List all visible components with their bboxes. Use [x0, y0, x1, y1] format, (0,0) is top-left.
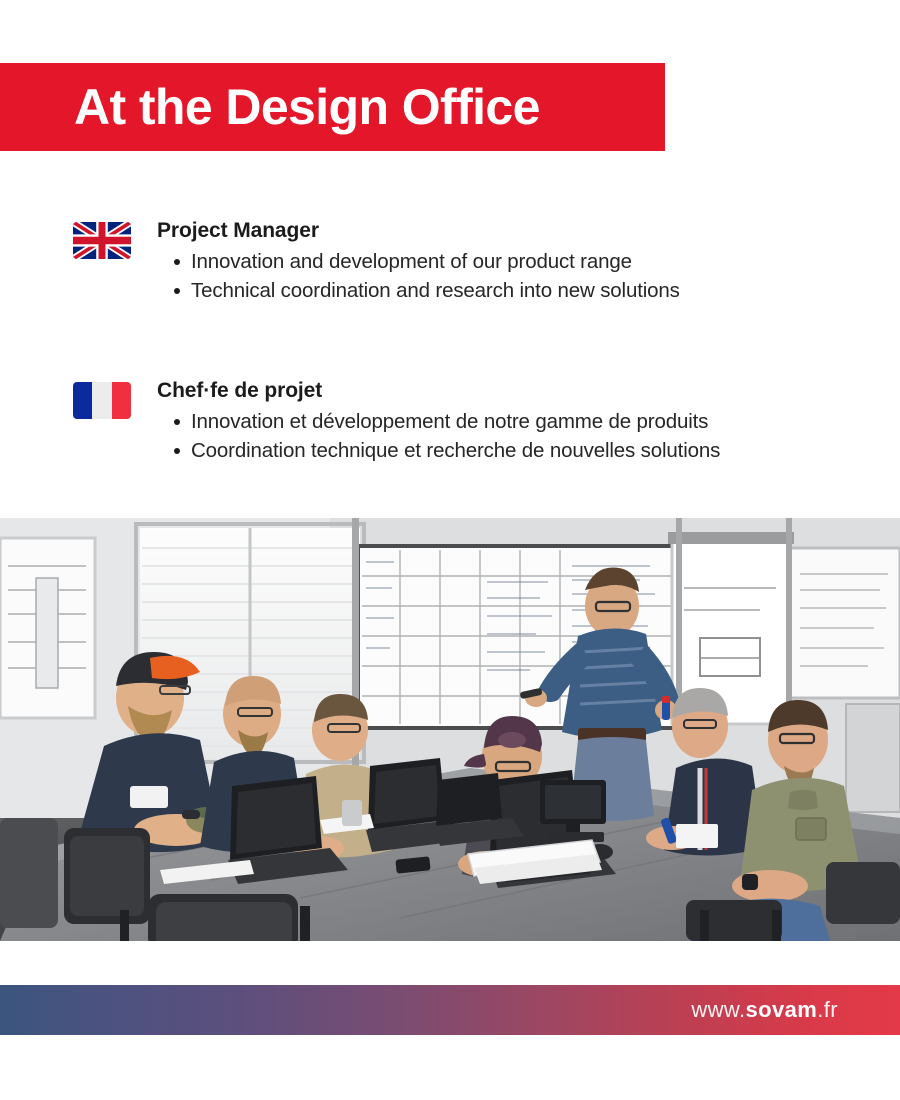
flag-band-white	[92, 382, 111, 419]
uk-flag-icon	[73, 222, 131, 259]
role-title-french: Chef·fe de projet	[157, 378, 897, 404]
url-suffix: .fr	[817, 997, 838, 1022]
role-title-english: Project Manager	[157, 218, 897, 244]
list-item: Innovation and development of our produc…	[157, 247, 897, 276]
bullet-list-french: Innovation et développement de notre gam…	[157, 407, 897, 465]
list-item: Innovation et développement de notre gam…	[157, 407, 897, 436]
url-prefix: www.	[691, 997, 745, 1022]
list-item: Coordination technique et recherche de n…	[157, 436, 897, 465]
title-banner: At the Design Office	[0, 63, 665, 151]
photo-illustration	[0, 518, 900, 941]
bullet-text: Innovation and development of our produc…	[191, 250, 632, 273]
bullet-dot-icon	[174, 259, 180, 265]
france-flag-icon	[73, 382, 131, 419]
team-meeting-photo	[0, 518, 900, 941]
flag-band-blue	[73, 382, 92, 419]
bullet-list-english: Innovation and development of our produc…	[157, 247, 897, 305]
bullet-text: Coordination technique et recherche de n…	[191, 439, 720, 462]
url-brand: sovam	[746, 997, 818, 1022]
bullet-dot-icon	[174, 419, 180, 425]
page-title: At the Design Office	[0, 82, 540, 132]
french-content: Chef·fe de projet Innovation et développ…	[157, 378, 897, 465]
bullet-text: Innovation et développement de notre gam…	[191, 410, 708, 433]
bullet-dot-icon	[174, 288, 180, 294]
website-url[interactable]: www.sovam.fr	[691, 997, 900, 1023]
english-content: Project Manager Innovation and developme…	[157, 218, 897, 305]
bullet-text: Technical coordination and research into…	[191, 279, 680, 302]
footer-bar: www.sovam.fr	[0, 985, 900, 1035]
bullet-dot-icon	[174, 448, 180, 454]
list-item: Technical coordination and research into…	[157, 276, 897, 305]
flag-band-red	[112, 382, 131, 419]
